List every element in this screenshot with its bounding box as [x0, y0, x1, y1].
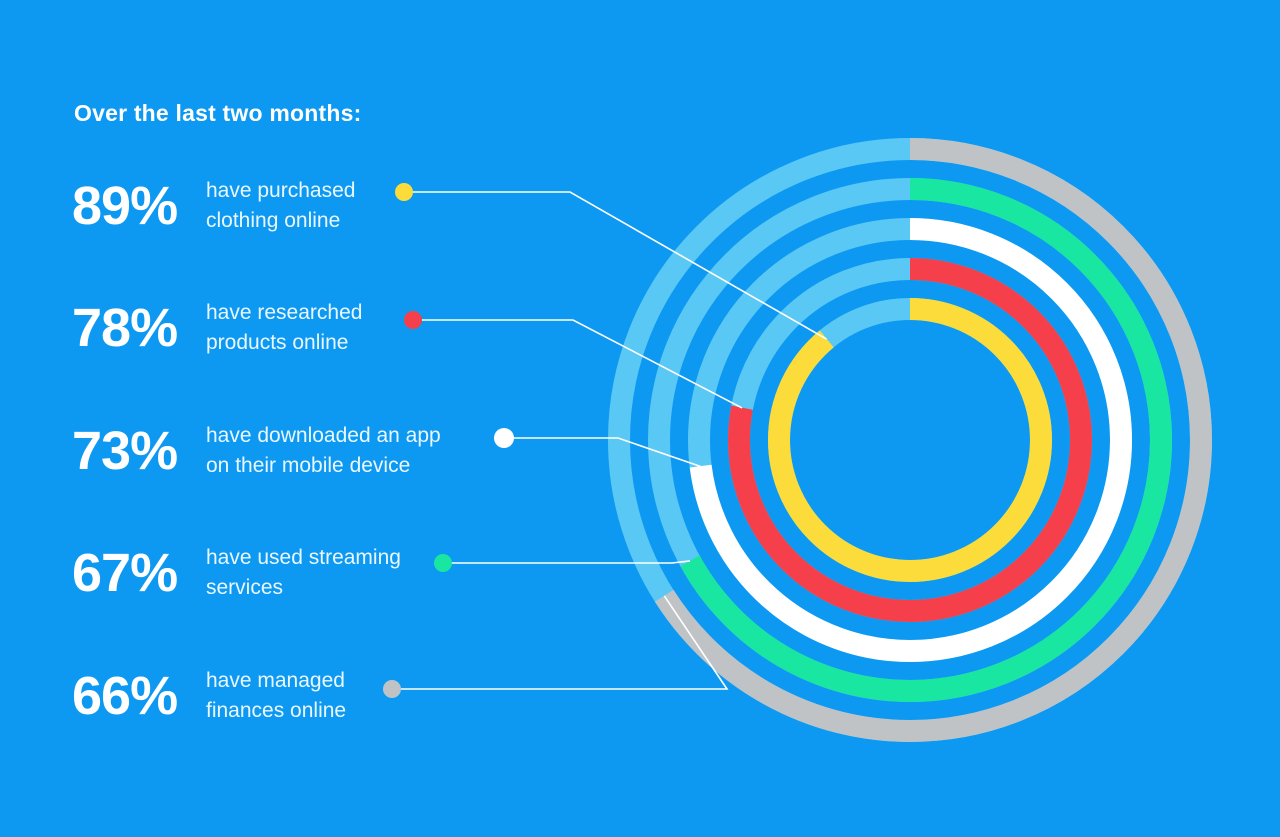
legend-description-2: have downloaded an app on their mobile d…: [206, 421, 441, 481]
legend-row-1: 78% have researched products online: [72, 290, 362, 366]
ring-arc-streaming: [659, 189, 1161, 691]
legend-line1-0: have purchased: [206, 179, 355, 202]
ring-track-app: [699, 229, 1121, 651]
ring-group: [619, 149, 1201, 731]
legend-percent-2: 73%: [72, 424, 200, 478]
legend-dot-streaming: [434, 554, 452, 572]
ring-arc-research: [739, 269, 1081, 611]
legend-description-4: have managed finances online: [206, 666, 346, 726]
ring-arc-clothing: [779, 309, 1041, 571]
legend-description-0: have purchased clothing online: [206, 176, 355, 236]
ring-track-research: [739, 269, 1081, 611]
legend-row-4: 66% have managed finances online: [72, 658, 346, 734]
legend-row-2: 73% have downloaded an app on their mobi…: [72, 413, 441, 489]
ring-arc-finance: [619, 149, 1201, 731]
legend-dot-clothing: [395, 183, 413, 201]
legend-dot-finance: [383, 680, 401, 698]
legend-line2-2: on their mobile device: [206, 451, 441, 481]
page-title: Over the last two months:: [74, 100, 632, 127]
legend-percent-4: 66%: [72, 669, 200, 723]
legend-line2-3: services: [206, 573, 401, 603]
legend-percent-3: 67%: [72, 546, 200, 600]
legend-row-3: 67% have used streaming services: [72, 535, 401, 611]
ring-track-clothing: [779, 309, 1041, 571]
legend-line2-1: products online: [206, 328, 362, 358]
infographic-canvas: Over the last two months: 89% have purch…: [0, 0, 1280, 837]
legend-line1-2: have downloaded an app: [206, 424, 441, 447]
ring-arc-app: [699, 229, 1121, 651]
legend-line1-4: have managed: [206, 669, 345, 692]
legend-line2-0: clothing online: [206, 206, 355, 236]
legend-line2-4: finances online: [206, 696, 346, 726]
leader-line-2: [504, 438, 701, 466]
ring-track-finance: [619, 149, 1201, 731]
legend-dot-app: [494, 428, 514, 448]
legend-percent-0: 89%: [72, 179, 200, 233]
leader-line-4: [392, 596, 727, 689]
leader-line-1: [413, 320, 742, 408]
leader-line-0: [404, 192, 826, 339]
legend-panel: Over the last two months:: [72, 100, 632, 163]
legend-row-0: 89% have purchased clothing online: [72, 168, 355, 244]
ring-track-streaming: [659, 189, 1161, 691]
legend-dot-research: [404, 311, 422, 329]
leader-line-3: [443, 561, 690, 563]
legend-description-1: have researched products online: [206, 298, 362, 358]
leader-line-group: [392, 192, 826, 689]
legend-description-3: have used streaming services: [206, 543, 401, 603]
legend-line1-3: have used streaming: [206, 546, 401, 569]
legend-line1-1: have researched: [206, 301, 362, 324]
legend-percent-1: 78%: [72, 301, 200, 355]
